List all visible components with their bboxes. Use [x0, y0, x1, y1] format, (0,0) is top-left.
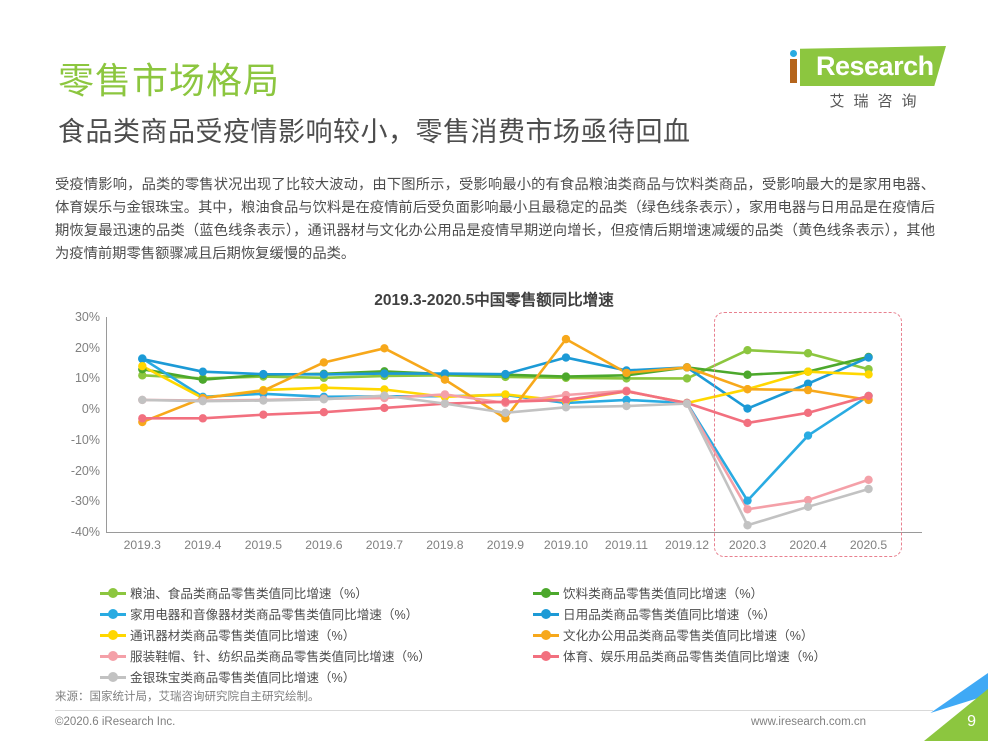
chart-data-point [138, 362, 146, 370]
legend-label: 日用品类商品零售类值同比增速（%） [563, 604, 776, 623]
chart-data-point [562, 396, 570, 404]
chart-data-point [562, 353, 570, 361]
chart-data-point [441, 399, 449, 407]
chart-data-point [259, 370, 267, 378]
source-note: 来源：国家统计局，艾瑞咨询研究院自主研究绘制。 [55, 688, 320, 704]
legend-column-left: 粮油、食品类商品零售类值同比增速（%）家用电器和音像器材类商品零售类值同比增速（… [100, 582, 540, 687]
legend-label: 金银珠宝类商品零售类值同比增速（%） [130, 667, 355, 686]
chart-data-point [501, 370, 509, 378]
legend-label: 服装鞋帽、针、纺织品类商品零售类值同比增速（%） [130, 646, 431, 665]
chart-data-point [441, 390, 449, 398]
legend-item[interactable]: 服装鞋帽、针、纺织品类商品零售类值同比增速（%） [100, 645, 540, 666]
chart-data-point [259, 396, 267, 404]
x-tick-label: 2019.7 [366, 538, 403, 552]
body-paragraph: 受疫情影响，品类的零售状况出现了比较大波动，由下图所示，受影响最小的有食品粮油类… [55, 174, 935, 266]
x-tick-label: 2019.4 [184, 538, 221, 552]
legend-label: 粮油、食品类商品零售类值同比增速（%） [130, 583, 368, 602]
chart-data-point [320, 408, 328, 416]
y-tick-label: -20% [44, 464, 100, 478]
chart-data-point [199, 414, 207, 422]
chart-data-point [441, 375, 449, 383]
chart-data-point [320, 358, 328, 366]
x-tick-label: 2019.10 [544, 538, 588, 552]
y-tick-label: 0% [44, 402, 100, 416]
legend-item[interactable]: 饮料类商品零售类值同比增速（%） [533, 582, 943, 603]
y-tick-label: 30% [44, 310, 100, 324]
legend-column-right: 饮料类商品零售类值同比增速（%）日用品类商品零售类值同比增速（%）文化办公用品类… [533, 582, 943, 666]
chart-data-point [501, 398, 509, 406]
chart-data-point [501, 409, 509, 417]
legend-marker-icon [100, 587, 126, 599]
x-tick-label: 2019.3 [124, 538, 161, 552]
legend-label: 饮料类商品零售类值同比增速（%） [563, 583, 763, 602]
chart-data-point [380, 369, 388, 377]
y-tick-label: 20% [44, 341, 100, 355]
x-tick-label: 2019.5 [245, 538, 282, 552]
chart-data-point [320, 383, 328, 391]
footer-divider [55, 710, 933, 711]
copyright-text: ©2020.6 iResearch Inc. [55, 716, 175, 728]
y-tick-label: -30% [44, 494, 100, 508]
legend-marker-icon [533, 629, 559, 641]
chart-data-point [199, 397, 207, 405]
page-number: 9 [967, 713, 976, 731]
chart-data-point [622, 369, 630, 377]
chart-title: 2019.3-2020.5中国零售额同比增速 [0, 288, 988, 310]
website-link[interactable]: www.iresearch.com.cn [751, 716, 866, 728]
chart-data-point [138, 414, 146, 422]
chart-data-point [562, 372, 570, 380]
legend-label: 体育、娱乐用品类商品零售类值同比增速（%） [563, 646, 826, 665]
chart-data-point [683, 363, 691, 371]
legend-marker-icon [533, 608, 559, 620]
legend-marker-icon [533, 650, 559, 662]
iresearch-logo: Research 艾瑞咨询 [786, 46, 946, 112]
chart-data-point [622, 387, 630, 395]
logo-i-stem [790, 59, 797, 83]
x-tick-label: 2019.11 [605, 538, 648, 552]
legend-item[interactable]: 通讯器材类商品零售类值同比增速（%） [100, 624, 540, 645]
chart-data-point [320, 395, 328, 403]
logo-i-dot [790, 50, 797, 57]
x-tick-label: 2019.6 [305, 538, 342, 552]
legend-item[interactable]: 粮油、食品类商品零售类值同比增速（%） [100, 582, 540, 603]
chart-data-point [683, 374, 691, 382]
y-axis-ticks: 30%20%10%0%-10%-20%-30%-40% [40, 317, 100, 532]
chart-data-point [259, 387, 267, 395]
highlight-annotation-box [714, 312, 902, 557]
chart-data-point [199, 375, 207, 383]
legend-item[interactable]: 文化办公用品类商品零售类值同比增速（%） [533, 624, 943, 645]
y-tick-label: 10% [44, 371, 100, 385]
legend-item[interactable]: 金银珠宝类商品零售类值同比增速（%） [100, 666, 540, 687]
legend-item[interactable]: 家用电器和音像器材类商品零售类值同比增速（%） [100, 603, 540, 624]
chart-data-point [320, 370, 328, 378]
y-tick-label: -10% [44, 433, 100, 447]
chart-data-point [199, 367, 207, 375]
chart-data-point [380, 391, 388, 399]
chart-data-point [562, 335, 570, 343]
chart-data-point [138, 396, 146, 404]
chart-data-point [259, 410, 267, 418]
chart-data-point [501, 390, 509, 398]
page-subtitle: 食品类商品受疫情影响较小，零售消费市场亟待回血 [58, 110, 691, 149]
chart-data-point [683, 399, 691, 407]
legend-marker-icon [533, 587, 559, 599]
legend-label: 家用电器和音像器材类商品零售类值同比增速（%） [130, 604, 418, 623]
legend-marker-icon [100, 671, 126, 683]
legend-marker-icon [100, 629, 126, 641]
page-title: 零售市场格局 [58, 52, 280, 104]
legend-label: 文化办公用品类商品零售类值同比增速（%） [563, 625, 813, 644]
chart-data-point [562, 403, 570, 411]
legend-item[interactable]: 体育、娱乐用品类商品零售类值同比增速（%） [533, 645, 943, 666]
legend-item[interactable]: 日用品类商品零售类值同比增速（%） [533, 603, 943, 624]
y-tick-label: -40% [44, 525, 100, 539]
logo-i-mark [790, 50, 797, 83]
corner-decoration [924, 673, 988, 741]
logo-wordmark: Research [816, 51, 934, 82]
chart-data-point [622, 402, 630, 410]
logo-chinese-name: 艾瑞咨询 [800, 90, 946, 111]
x-tick-label: 2019.9 [487, 538, 524, 552]
legend-marker-icon [100, 608, 126, 620]
x-tick-label: 2019.12 [665, 538, 709, 552]
chart-data-point [380, 404, 388, 412]
legend-label: 通讯器材类商品零售类值同比增速（%） [130, 625, 355, 644]
chart-data-point [380, 344, 388, 352]
legend-marker-icon [100, 650, 126, 662]
x-tick-label: 2019.8 [426, 538, 463, 552]
slide-page: Research 艾瑞咨询 零售市场格局 食品类商品受疫情影响较小，零售消费市场… [0, 0, 988, 741]
